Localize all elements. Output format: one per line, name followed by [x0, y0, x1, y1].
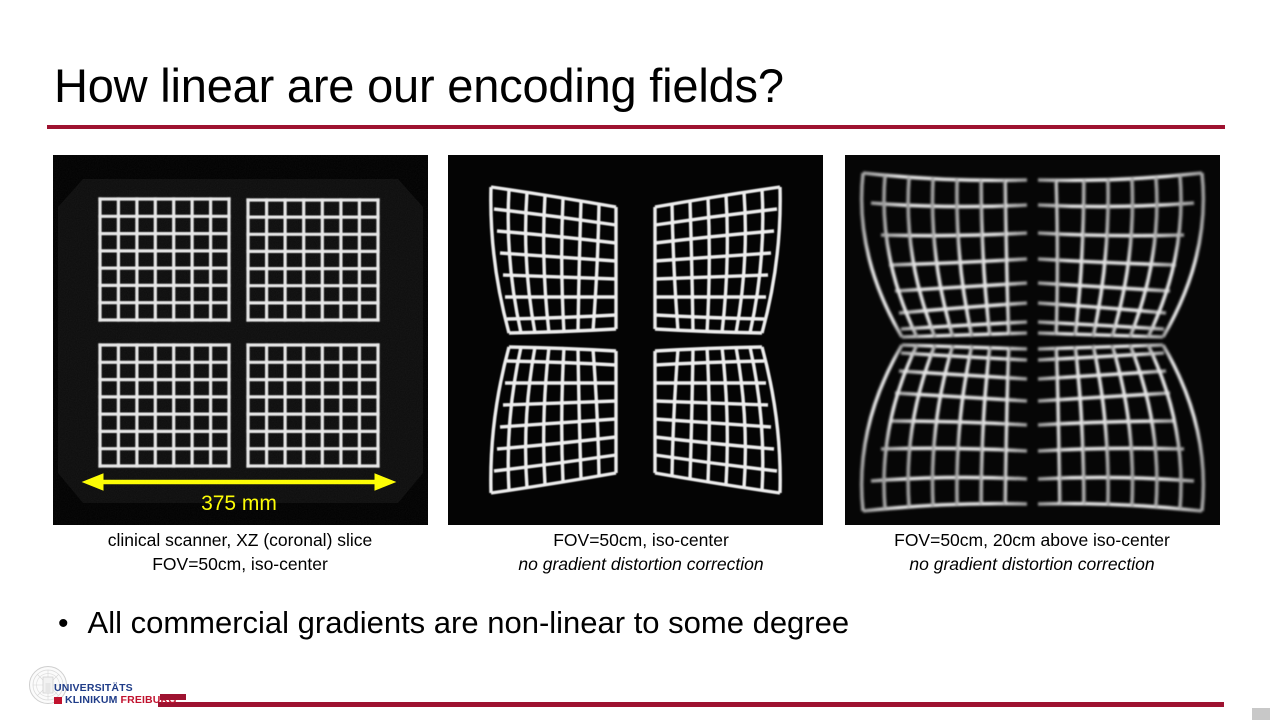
bullet-marker-icon: • — [58, 606, 69, 642]
figure-caption-2: FOV=50cm, iso-center no gradient distort… — [441, 528, 841, 576]
bullet-text: All commercial gradients are non-linear … — [88, 604, 850, 642]
caption-line-1: FOV=50cm, 20cm above iso-center — [832, 528, 1232, 552]
logo-line-1: UNIVERSITÄTS — [54, 682, 166, 694]
logo-wordmark: UNIVERSITÄTS KLINIKUM FREIBURG — [54, 682, 166, 706]
logo-line-2: KLINIKUM FREIBURG — [54, 694, 166, 706]
logo-red-bar-left-icon — [54, 697, 62, 704]
corner-marker — [1252, 708, 1270, 720]
mri-phantom-image-3 — [845, 155, 1220, 525]
mri-phantom-image-2 — [448, 155, 823, 525]
page-title: How linear are our encoding fields? — [54, 57, 1224, 115]
university-logo: UNIVERSITÄTS KLINIKUM FREIBURG — [26, 664, 166, 712]
figure-row: 375 mm — [0, 155, 1272, 525]
caption-line-2: FOV=50cm, iso-center — [40, 552, 440, 576]
caption-line-2: no gradient distortion correction — [441, 552, 841, 576]
mri-phantom-image-1: 375 mm — [53, 155, 428, 525]
figure-caption-3: FOV=50cm, 20cm above iso-center no gradi… — [832, 528, 1232, 576]
caption-line-1: FOV=50cm, iso-center — [441, 528, 841, 552]
footer-divider — [158, 702, 1224, 707]
logo-line-2-blue: KLINIKUM — [65, 694, 118, 706]
caption-line-2: no gradient distortion correction — [832, 552, 1232, 576]
bullet-list: • All commercial gradients are non-linea… — [58, 604, 1208, 642]
logo-red-bar-right-icon — [160, 694, 186, 700]
figure-phantom-2[interactable] — [448, 155, 823, 525]
figure-caption-1: clinical scanner, XZ (coronal) slice FOV… — [40, 528, 440, 576]
title-divider — [47, 125, 1225, 129]
caption-line-1: clinical scanner, XZ (coronal) slice — [40, 528, 440, 552]
figure-phantom-1[interactable]: 375 mm — [53, 155, 428, 525]
figure-phantom-3[interactable] — [845, 155, 1220, 525]
